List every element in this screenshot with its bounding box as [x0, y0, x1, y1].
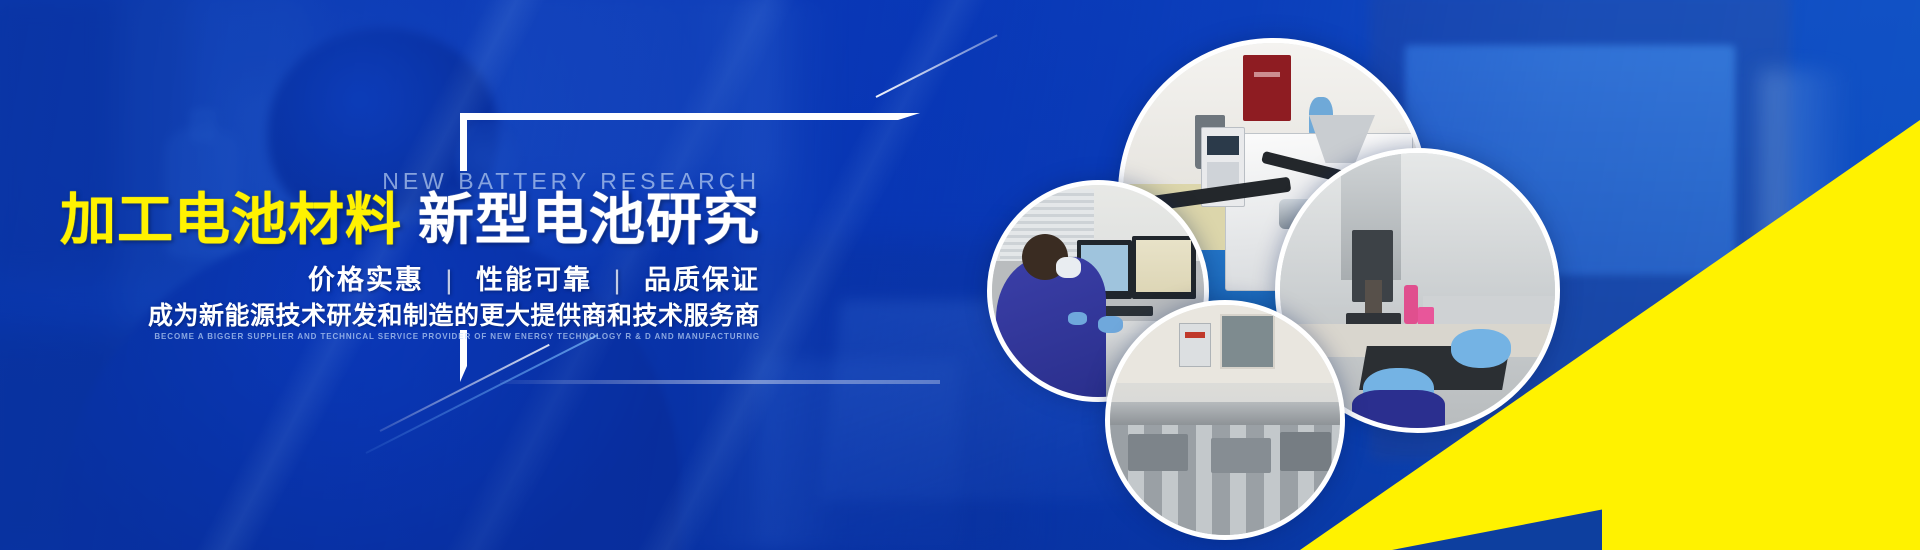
photo-worker-glove-left — [1068, 312, 1087, 325]
photo-gloved-hand-right — [1451, 329, 1512, 368]
photo-fixture-1 — [1128, 434, 1188, 471]
tagline-item-3: 品质保证 — [644, 265, 760, 295]
english-subline-text: BECOME A BIGGER SUPPLIER AND TECHNICAL S… — [154, 332, 760, 341]
photo-fixture-3 — [1280, 432, 1331, 471]
headline-secondary: 新型电池研究 — [418, 188, 760, 251]
photo-pink-tool — [1404, 285, 1418, 324]
photo-background — [1280, 153, 1555, 307]
tagline: 价格实惠 | 性能可靠 | 品质保证 — [308, 258, 760, 297]
subline-text: 成为新能源技术研发和制造的更大提供商和技术服务商 — [148, 296, 760, 332]
photo-production-line-rack — [1105, 300, 1345, 540]
photo-control-box — [1179, 323, 1211, 366]
promo-banner: NEW BATTERY RESEARCH 加工电池材料新型电池研究 价格实惠 |… — [0, 0, 1920, 550]
photo-window — [1220, 314, 1275, 369]
photo-monitor-right — [1132, 236, 1196, 300]
banner-copy: NEW BATTERY RESEARCH 加工电池材料新型电池研究 价格实惠 |… — [0, 0, 940, 550]
photo-fixture-2 — [1211, 438, 1271, 473]
headline: 加工电池材料新型电池研究 — [60, 192, 760, 248]
photo-bench — [1110, 402, 1340, 425]
photo-red-cabinet — [1243, 55, 1291, 121]
tagline-item-1: 价格实惠 — [308, 265, 424, 295]
tagline-item-2: 性能可靠 — [476, 265, 592, 295]
photo-face-mask — [1056, 257, 1081, 278]
tagline-separator-1: | — [433, 265, 466, 295]
photo-uniform-sleeve — [1352, 390, 1446, 434]
headline-primary: 加工电池材料 — [60, 188, 402, 251]
tagline-separator-2: | — [601, 265, 634, 295]
